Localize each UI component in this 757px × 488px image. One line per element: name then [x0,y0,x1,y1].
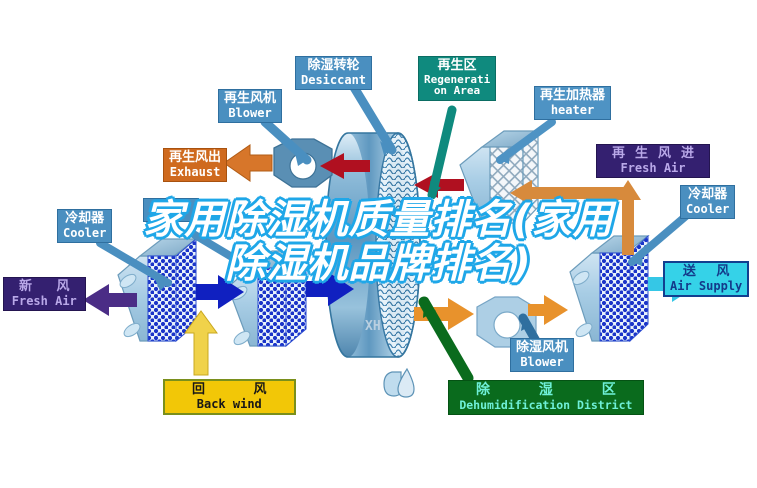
label-cooler-left-en: Cooler [63,227,106,240]
regeneration-blower-graphic [274,139,332,187]
label-cooler-mid[interactable]: 冷却器 [143,198,199,222]
label-regeneration-exhaust-en: Exhaust [169,166,221,179]
label-dehumidification-area-en: Dehumidification District [454,399,638,411]
schematic-artwork: XH [0,0,757,488]
label-back-wind-en: Back wind [170,398,289,411]
condensate-drop-graphic [384,369,414,397]
label-regeneration-fresh-air-en: Fresh Air [602,162,704,175]
rotor-watermark-text: XH [365,319,381,334]
label-cooler-left-cn: 冷却器 [63,212,106,226]
label-dehumidification-area[interactable]: 除 湿 区 Dehumidification District [448,380,644,415]
label-regeneration-fresh-air-cn: 再生风进 [602,147,704,161]
label-air-supply-cn: 送 风 [670,265,742,279]
label-cooler-right-cn: 冷却器 [686,188,729,202]
exhaust-arrow [224,145,272,181]
label-regeneration-blower-cn: 再生风机 [224,92,276,106]
label-air-supply[interactable]: 送 风 Air Supply [663,261,749,297]
label-fresh-air-inlet-cn: 新 风 [9,280,80,294]
label-regeneration-area-cn: 再生区 [424,59,490,73]
label-regeneration-blower-en: Blower [224,107,276,120]
label-cooler-right[interactable]: 冷却器 Cooler [680,185,735,219]
label-cooler-left[interactable]: 冷却器 Cooler [57,209,112,243]
label-dehumidification-fan[interactable]: 除湿风机 Blower [510,338,574,372]
label-regeneration-heater[interactable]: 再生加热器 heater [534,86,611,120]
label-regeneration-area[interactable]: 再生区 Regenerati on Area [418,56,496,101]
label-back-wind-cn: 回 风 [170,383,289,397]
label-desiccant-rotor-en: Desiccant [301,74,366,87]
label-fresh-air-inlet[interactable]: 新 风 Fresh Air [3,277,86,311]
label-regeneration-exhaust-cn: 再生风出 [169,151,221,165]
label-regeneration-heater-cn: 再生加热器 [540,89,605,103]
label-dehumidification-fan-en: Blower [516,356,568,369]
label-regeneration-exhaust[interactable]: 再生风出 Exhaust [163,148,227,182]
label-desiccant-rotor[interactable]: 除湿转轮 Desiccant [295,56,372,90]
label-regeneration-area-en: Regenerati on Area [424,74,490,97]
dehumidifier-diagram-image: XH [0,0,757,488]
label-fresh-air-inlet-en: Fresh Air [9,295,80,308]
label-dehumidification-area-cn: 除 湿 区 [454,383,638,398]
cooler-block-right-graphic [570,236,648,341]
cooler-block-left-graphic [118,239,196,341]
label-desiccant-rotor-cn: 除湿转轮 [301,59,366,73]
label-cooler-mid-cn: 冷却器 [149,200,193,213]
label-regeneration-heater-en: heater [540,104,605,117]
label-air-supply-en: Air Supply [670,280,742,293]
label-back-wind[interactable]: 回 风 Back wind [163,379,296,415]
label-cooler-right-en: Cooler [686,203,729,216]
label-regeneration-fresh-air[interactable]: 再生风进 Fresh Air [596,144,710,178]
label-regeneration-blower[interactable]: 再生风机 Blower [218,89,282,123]
label-dehumidification-fan-cn: 除湿风机 [516,341,568,355]
